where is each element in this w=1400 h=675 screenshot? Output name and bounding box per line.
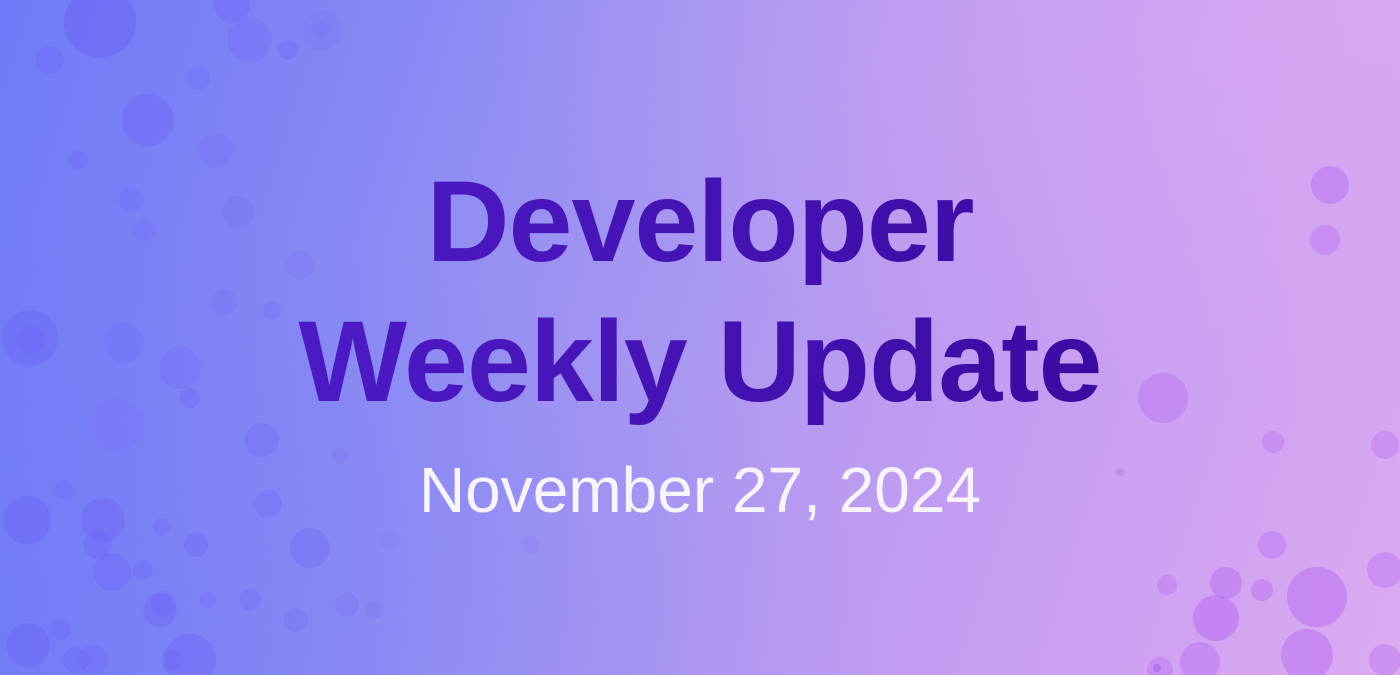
banner-content: Developer Weekly Update November 27, 202… (0, 0, 1400, 675)
banner-title: Developer Weekly Update (0, 152, 1400, 432)
banner-date: November 27, 2024 (0, 452, 1400, 528)
weekly-update-banner: Developer Weekly Update November 27, 202… (0, 0, 1400, 675)
